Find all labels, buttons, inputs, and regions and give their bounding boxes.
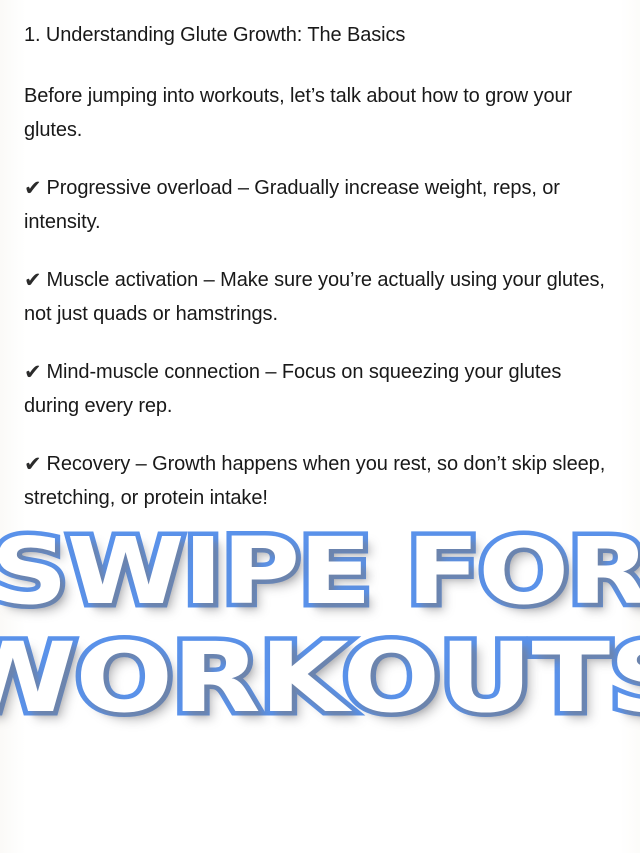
check-mark-icon: ✔ [24, 171, 42, 205]
page-title: 1. Understanding Glute Growth: The Basic… [24, 18, 616, 52]
list-item-label: Recovery – Growth happens when you rest,… [24, 453, 605, 509]
list-item-label: Muscle activation – Make sure you’re act… [24, 269, 605, 325]
article-body: 1. Understanding Glute Growth: The Basic… [24, 18, 616, 538]
list-item: ✔Muscle activation – Make sure you’re ac… [24, 262, 616, 331]
list-item-label: Progressive overload – Gradually increas… [24, 177, 560, 233]
swipe-for-workouts-callout: SWIPE FOR WORKOUTS [0, 528, 640, 724]
check-mark-icon: ✔ [24, 355, 42, 389]
check-mark-icon: ✔ [24, 263, 42, 297]
swipe-callout-line-2: WORKOUTS [0, 632, 640, 724]
intro-paragraph: Before jumping into workouts, let’s talk… [24, 79, 616, 147]
list-item-label: Mind-muscle connection – Focus on squeez… [24, 361, 561, 417]
check-mark-icon: ✔ [24, 447, 42, 481]
list-item: ✔Progressive overload – Gradually increa… [24, 170, 616, 239]
list-item: ✔Mind-muscle connection – Focus on squee… [24, 354, 616, 423]
list-item: ✔Recovery – Growth happens when you rest… [24, 446, 616, 515]
swipe-callout-line-1: SWIPE FOR [0, 528, 640, 616]
